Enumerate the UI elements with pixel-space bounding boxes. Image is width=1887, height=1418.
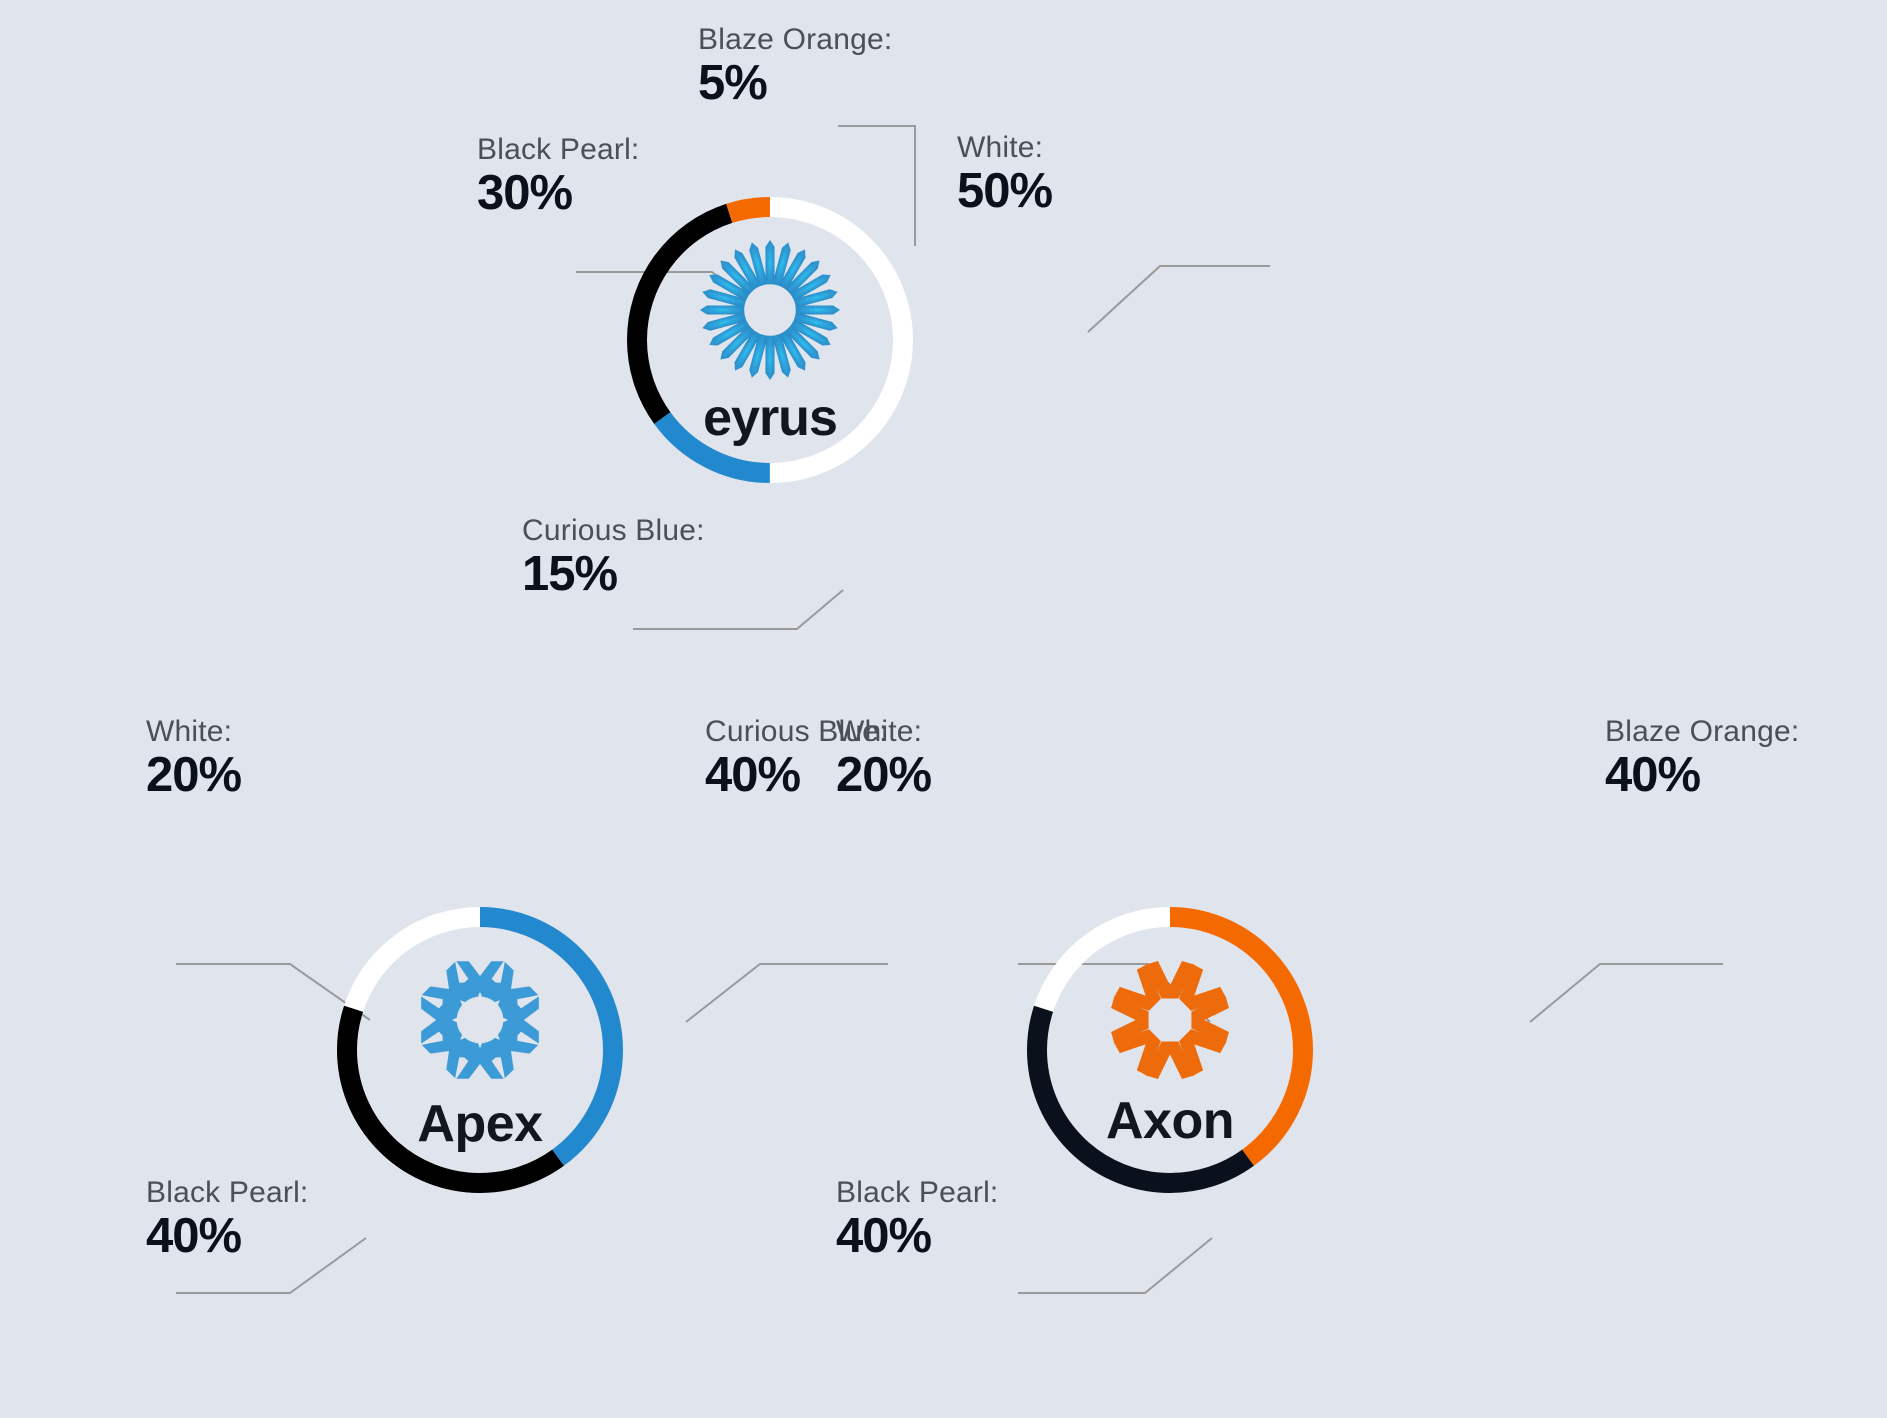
callout-apex-black-pearl[interactable]: Black Pearl: 40% xyxy=(146,1175,308,1264)
donut-svg-axon xyxy=(1020,880,1320,1220)
callout-label-name: Blaze Orange: xyxy=(698,22,892,57)
callout-eyrus-blaze-orange[interactable]: Blaze Orange: 5% xyxy=(698,22,892,111)
callout-label-name: White: xyxy=(836,714,931,749)
donut-chart-apex: Apex White: 20% Curious Blue: 40% Black … xyxy=(330,880,630,1220)
callout-label-name: Blaze Orange: xyxy=(1605,714,1799,749)
leader-line-eyrus-white xyxy=(1088,266,1270,332)
leader-line-axon-black-pearl xyxy=(1018,1238,1212,1293)
donut-svg-apex xyxy=(330,880,630,1220)
callout-label-value: 40% xyxy=(1605,749,1799,803)
callout-label-value: 40% xyxy=(836,1210,998,1264)
callout-eyrus-curious-blue[interactable]: Curious Blue: 15% xyxy=(522,513,705,602)
callout-label-value: 5% xyxy=(698,57,892,111)
infographic-canvas: eyrus Blaze Orange: 5% Black Pearl: 30% … xyxy=(0,0,1887,1418)
donut-wrap-eyrus: eyrus xyxy=(620,170,920,510)
leader-line-apex-curious-blue xyxy=(686,964,888,1022)
donut-wrap-axon: Axon xyxy=(1020,880,1320,1220)
callout-label-value: 50% xyxy=(957,165,1052,219)
callout-label-name: Black Pearl: xyxy=(146,1175,308,1210)
callout-label-value: 20% xyxy=(836,749,931,803)
callout-eyrus-white[interactable]: White: 50% xyxy=(957,130,1052,219)
callout-label-name: White: xyxy=(146,714,241,749)
callout-label-value: 15% xyxy=(522,548,705,602)
callout-label-name: Black Pearl: xyxy=(836,1175,998,1210)
callout-eyrus-black-pearl[interactable]: Black Pearl: 30% xyxy=(477,132,639,221)
donut-wrap-apex: Apex xyxy=(330,880,630,1220)
leader-line-axon-blaze-orange xyxy=(1530,964,1723,1022)
callout-label-value: 40% xyxy=(146,1210,308,1264)
donut-svg-eyrus xyxy=(620,170,920,510)
callout-label-value: 20% xyxy=(146,749,241,803)
callout-apex-white[interactable]: White: 20% xyxy=(146,714,241,803)
callout-axon-black-pearl[interactable]: Black Pearl: 40% xyxy=(836,1175,998,1264)
donut-chart-eyrus: eyrus Blaze Orange: 5% Black Pearl: 30% … xyxy=(620,170,920,510)
callout-label-name: Curious Blue: xyxy=(522,513,705,548)
callout-label-value: 30% xyxy=(477,167,639,221)
callout-axon-white[interactable]: White: 20% xyxy=(836,714,931,803)
donut-chart-axon: Axon White: 20% Blaze Orange: 40% Black … xyxy=(1020,880,1320,1220)
callout-label-name: Black Pearl: xyxy=(477,132,639,167)
callout-label-name: White: xyxy=(957,130,1052,165)
callout-axon-blaze-orange[interactable]: Blaze Orange: 40% xyxy=(1605,714,1799,803)
